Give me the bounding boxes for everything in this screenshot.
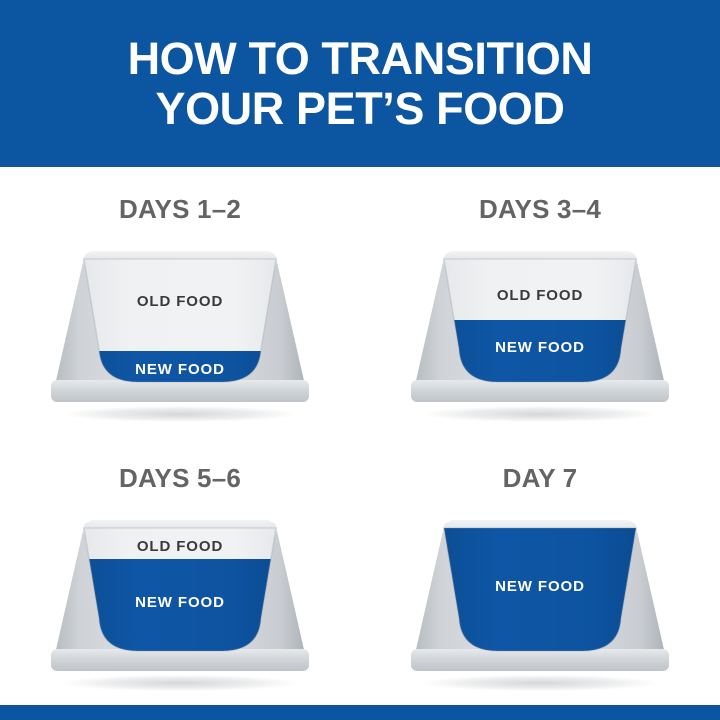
step-days-3-4: DAYS 3–4 <box>360 167 720 436</box>
step-days-5-6: DAYS 5–6 <box>0 436 360 705</box>
step-title: DAYS 3–4 <box>479 194 601 225</box>
bowl-illustration <box>37 506 323 686</box>
header-title-line-1: HOW TO TRANSITION <box>128 34 593 84</box>
bowl-base <box>51 649 309 671</box>
step-title: DAYS 1–2 <box>119 194 241 225</box>
step-title: DAYS 5–6 <box>119 463 241 494</box>
food-bowl-day-7: NEW FOOD <box>397 506 683 686</box>
food-bowl-days-5-6: OLD FOOD NEW FOOD <box>37 506 323 686</box>
header-title-line-2: YOUR PET’S FOOD <box>155 84 564 134</box>
food-bowl-days-1-2: OLD FOOD NEW FOOD <box>37 237 323 417</box>
bowl-illustration <box>397 506 683 686</box>
bowl-illustration <box>397 237 683 417</box>
bowl-base <box>411 380 669 402</box>
step-days-1-2: DAYS 1–2 <box>0 167 360 436</box>
transition-steps-grid: DAYS 1–2 <box>0 167 720 705</box>
footer-banner <box>0 705 720 720</box>
bowl-illustration <box>37 237 323 417</box>
header-banner: HOW TO TRANSITION YOUR PET’S FOOD <box>0 0 720 167</box>
step-day-7: DAY 7 <box>360 436 720 705</box>
step-title: DAY 7 <box>503 463 578 494</box>
bowl-base <box>411 649 669 671</box>
food-bowl-days-3-4: OLD FOOD NEW FOOD <box>397 237 683 417</box>
infographic-root: HOW TO TRANSITION YOUR PET’S FOOD DAYS 1… <box>0 0 720 720</box>
bowl-base <box>51 380 309 402</box>
